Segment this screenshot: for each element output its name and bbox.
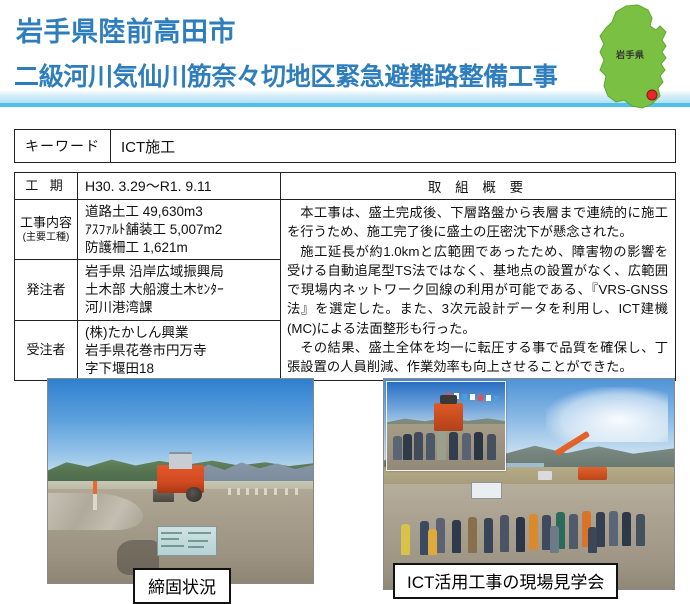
table-row: 工事内容 (主要工種) 道路土工 49,630m3 ｱｽﾌｧﾙﾄ舗装工 5,00…: [15, 200, 676, 260]
site-tour-photo-caption: ICT活用工事の現場見学会: [393, 563, 618, 599]
keyword-label: キーワード: [15, 130, 111, 163]
row-label-contractor: 受注者: [15, 320, 78, 380]
row-label-period: 工 期: [15, 173, 78, 200]
compaction-photo: [47, 378, 314, 584]
photo-survey-stake: [93, 481, 97, 510]
page-title-project: 二級河川気仙川筋奈々切地区緊急避難路整備工事: [14, 57, 557, 93]
photo-roller-cab: [169, 452, 193, 468]
table-row: 工 期 H30. 3.29〜R1. 9.11 取 組 概 要: [15, 173, 676, 200]
photo-truck: [538, 471, 553, 479]
photo-roadside-posts: [228, 485, 302, 495]
row-label-work-content: 工事内容 (主要工種): [15, 200, 78, 260]
compaction-photo-caption: 締固状況: [133, 568, 231, 604]
summary-paragraph-3: その結果、盛土全体を均一に転圧する事で品質を確保し、丁張設置の人員削減、作業効率…: [287, 338, 668, 377]
row-value-contractor: (株)たかしん興業 岩手県花巻市円万寺 字下堰田18: [78, 320, 281, 380]
page-title-municipality: 岩手県陸前高田市: [16, 10, 236, 49]
table-row: キーワード ICT施工: [15, 130, 676, 163]
row-label-work-content-main: 工事内容: [20, 215, 72, 230]
row-value-period: H30. 3.29〜R1. 9.11: [78, 173, 281, 200]
row-value-client: 岩手県 沿岸広域振興局 土木部 大船渡土木ｾﾝﾀｰ 河川港湾課: [78, 260, 281, 320]
row-value-work-content: 道路土工 49,630m3 ｱｽﾌｧﾙﾄ舗装工 5,007m2 防護柵工 1,6…: [78, 200, 281, 260]
site-tour-inset-photo: [386, 381, 506, 471]
row-label-client: 発注者: [15, 260, 78, 320]
summary-text: 本工事は、盛土完成後、下層路盤から表層まで連続的に施工を行うため、施工完了後に盛…: [281, 200, 676, 381]
map-region-label: 岩手県: [616, 48, 645, 61]
row-label-work-content-sub: (主要工種): [16, 232, 76, 244]
photo-excavator-body: [578, 467, 607, 480]
compaction-photo-frame: [47, 378, 314, 584]
summary-column-header: 取 組 概 要: [281, 173, 676, 200]
inset-machine-cab: [440, 395, 457, 404]
site-tour-photo-frame: [383, 378, 675, 590]
photo-roller-wheel: [186, 487, 202, 502]
project-info-table: 工 期 H30. 3.29〜R1. 9.11 取 組 概 要 工事内容 (主要工…: [14, 172, 676, 381]
iwate-prefecture-map-icon: 岩手県: [586, 2, 682, 114]
site-tour-photo: [383, 378, 675, 590]
inset-attendees: [389, 422, 502, 466]
summary-paragraph-2: 施工延長が約1.0kmと広範囲であったため、障害物の影響を受ける自動追尾型TS法…: [287, 242, 668, 338]
photo-tour-attendees: [396, 488, 663, 564]
keyword-value: ICT施工: [111, 130, 676, 163]
summary-paragraph-1: 本工事は、盛土完成後、下層路盤から表層まで連続的に施工を行うため、施工完了後に盛…: [287, 203, 668, 242]
keyword-table: キーワード ICT施工: [14, 129, 676, 163]
photo-construction-signboard: [157, 526, 217, 557]
photo-cloud: [546, 387, 668, 442]
